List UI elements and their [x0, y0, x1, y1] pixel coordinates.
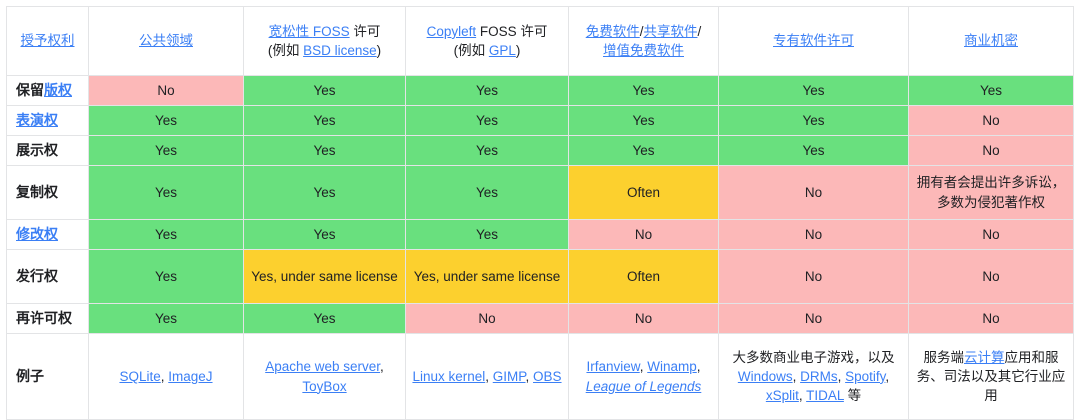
cell-modification-proprietary-license: No	[719, 220, 909, 250]
cell-copyright-trade-secret: Yes	[909, 76, 1074, 106]
cell-ex-public-domain-link-2[interactable]: ImageJ	[168, 369, 212, 384]
cell-sublicensing-freeware-shareware: No	[569, 304, 719, 334]
row-label-copyright-link-1[interactable]: 版权	[44, 82, 72, 98]
column-header-freeware-shareware-line-1: 增值免费软件	[575, 41, 712, 60]
column-header-permissive-foss-text-2: )	[377, 43, 382, 58]
cell-copyright-freeware-shareware: Yes	[569, 76, 719, 106]
cell-ex-copyleft-link-0[interactable]: Linux kernel	[412, 369, 485, 384]
column-header-permissive-foss-text-2: 许可	[350, 24, 381, 39]
column-header-public-domain-link-0[interactable]: 公共领域	[139, 33, 193, 48]
cell-distribution-copyleft-foss: Yes, under same license	[406, 250, 569, 304]
cell-performance-public-domain: Yes	[89, 106, 244, 136]
table-row: 再许可权YesYesNoNoNoNo	[7, 304, 1074, 334]
column-header-freeware-shareware-line-0: 免费软件/共享软件/	[575, 22, 712, 41]
column-header-copyleft-foss-text-2: )	[516, 43, 521, 58]
cell-display-proprietary-license: Yes	[719, 136, 909, 166]
cell-ex-permissive-link-2[interactable]: ToyBox	[302, 379, 346, 394]
column-header-copyleft-foss-text-0: (例如	[454, 43, 489, 58]
table-row: 修改权YesYesYesNoNoNo	[7, 220, 1074, 250]
column-header-rights: 授予权利	[7, 7, 89, 76]
cell-copyright-permissive-foss: Yes	[244, 76, 406, 106]
row-label-copyright-text-0: 保留	[16, 82, 44, 98]
cell-ex-proprietary: 大多数商业电子游戏，以及 Windows, DRMs, Spotify, xSp…	[719, 334, 909, 420]
cell-display-freeware-shareware: Yes	[569, 136, 719, 166]
cell-sublicensing-proprietary-license: No	[719, 304, 909, 334]
cell-reproduction-copyleft-foss: Yes	[406, 166, 569, 220]
column-header-proprietary-license: 专有软件许可	[719, 7, 909, 76]
cell-modification-freeware-shareware: No	[569, 220, 719, 250]
table-row: 表演权YesYesYesYesYesNo	[7, 106, 1074, 136]
row-label-reproduction-text-0: 复制权	[16, 184, 58, 200]
software-license-rights-table: 授予权利公共领域宽松性 FOSS 许可(例如 BSD license)Copyl…	[6, 6, 1074, 420]
column-header-permissive-foss-link-0[interactable]: 宽松性	[269, 24, 313, 39]
row-label-performance-link-0[interactable]: 表演权	[16, 112, 58, 128]
cell-reproduction-permissive-foss: Yes	[244, 166, 406, 220]
cell-display-trade-secret: No	[909, 136, 1074, 166]
cell-distribution-permissive-foss: Yes, under same license	[244, 250, 406, 304]
column-header-rights-line-0: 授予权利	[13, 31, 82, 50]
column-header-freeware-shareware-link-0[interactable]: 增值免费软件	[603, 43, 684, 58]
column-header-permissive-foss-link-1[interactable]: BSD license	[303, 43, 377, 58]
comparison-table-sheet: 授予权利公共领域宽松性 FOSS 许可(例如 BSD license)Copyl…	[6, 6, 1073, 420]
cell-distribution-proprietary-license: No	[719, 250, 909, 304]
cell-performance-freeware-shareware: Yes	[569, 106, 719, 136]
column-header-copyleft-foss-line-0: Copyleft FOSS 许可	[412, 22, 562, 41]
column-header-copyleft-foss: Copyleft FOSS 许可(例如 GPL)	[406, 7, 569, 76]
column-header-proprietary-license-line-0: 专有软件许可	[725, 31, 902, 50]
cell-performance-permissive-foss: Yes	[244, 106, 406, 136]
column-header-public-domain: 公共领域	[89, 7, 244, 76]
cell-distribution-public-domain: Yes	[89, 250, 244, 304]
cell-ex-freeware-link-2[interactable]: Winamp	[647, 359, 697, 374]
cell-reproduction-public-domain: Yes	[89, 166, 244, 220]
cell-ex-proprietary-text-2: ,	[793, 369, 801, 384]
row-label-sublicensing-text-0: 再许可权	[16, 310, 72, 326]
row-label-distribution: 发行权	[7, 250, 89, 304]
column-header-public-domain-line-0: 公共领域	[95, 31, 237, 50]
cell-ex-proprietary-text-0: 大多数商业电子游戏，以及	[733, 350, 895, 365]
row-label-examples-text-0: 例子	[16, 368, 44, 384]
cell-display-public-domain: Yes	[89, 136, 244, 166]
cell-copyright-public-domain: No	[89, 76, 244, 106]
cell-modification-copyleft-foss: Yes	[406, 220, 569, 250]
table-row: 复制权YesYesYesOftenNo拥有者会提出许多诉讼，多数为侵犯著作权	[7, 166, 1074, 220]
column-header-trade-secret-line-0: 商业机密	[915, 31, 1067, 50]
cell-ex-proprietary-link-3[interactable]: DRMs	[800, 369, 838, 384]
cell-ex-trade-secret-link-1[interactable]: 云计算	[964, 350, 1005, 365]
cell-ex-freeware-text-3: ,	[697, 359, 701, 374]
table-body: 保留版权NoYesYesYesYesYes表演权YesYesYesYesYesN…	[7, 76, 1074, 420]
cell-sublicensing-copyleft-foss: No	[406, 304, 569, 334]
cell-ex-proprietary-link-1[interactable]: Windows	[738, 369, 793, 384]
row-label-display-text-0: 展示权	[16, 142, 58, 158]
table-row: 发行权YesYes, under same licenseYes, under …	[7, 250, 1074, 304]
column-header-permissive-foss-text-0: (例如	[268, 43, 303, 58]
cell-ex-copyleft-link-4[interactable]: OBS	[533, 369, 562, 384]
cell-ex-public-domain: SQLite, ImageJ	[89, 334, 244, 420]
column-header-freeware-shareware-link-0[interactable]: 免费软件	[586, 24, 640, 39]
cell-modification-permissive-foss: Yes	[244, 220, 406, 250]
cell-reproduction-proprietary-license: No	[719, 166, 909, 220]
cell-reproduction-trade-secret: 拥有者会提出许多诉讼，多数为侵犯著作权	[909, 166, 1074, 220]
cell-distribution-freeware-shareware: Often	[569, 250, 719, 304]
column-header-copyleft-foss-link-0[interactable]: Copyleft	[427, 24, 477, 39]
header-row: 授予权利公共领域宽松性 FOSS 许可(例如 BSD license)Copyl…	[7, 7, 1074, 76]
cell-ex-permissive-link-0[interactable]: Apache web server	[265, 359, 380, 374]
cell-ex-permissive-text-1: ,	[380, 359, 384, 374]
row-label-reproduction: 复制权	[7, 166, 89, 220]
cell-performance-trade-secret: No	[909, 106, 1074, 136]
row-label-copyright: 保留版权	[7, 76, 89, 106]
column-header-freeware-shareware-link-2[interactable]: 共享软件	[644, 24, 698, 39]
cell-ex-freeware-link-4[interactable]: League of Legends	[586, 379, 702, 394]
cell-sublicensing-trade-secret: No	[909, 304, 1074, 334]
row-label-distribution-text-0: 发行权	[16, 268, 58, 284]
cell-ex-permissive: Apache web server, ToyBox	[244, 334, 406, 420]
cell-ex-freeware-link-0[interactable]: Irfanview	[586, 359, 639, 374]
row-label-performance: 表演权	[7, 106, 89, 136]
cell-ex-proprietary-link-5[interactable]: Spotify	[845, 369, 885, 384]
cell-modification-public-domain: Yes	[89, 220, 244, 250]
cell-copyright-copyleft-foss: Yes	[406, 76, 569, 106]
table-header: 授予权利公共领域宽松性 FOSS 许可(例如 BSD license)Copyl…	[7, 7, 1074, 76]
cell-ex-public-domain-link-0[interactable]: SQLite	[119, 369, 160, 384]
cell-ex-copyleft-text-3: ,	[526, 369, 534, 384]
cell-sublicensing-public-domain: Yes	[89, 304, 244, 334]
column-header-copyleft-foss-text-1: FOSS 许可	[476, 24, 547, 39]
cell-modification-trade-secret: No	[909, 220, 1074, 250]
column-header-copyleft-foss-link-1[interactable]: GPL	[489, 43, 516, 58]
cell-display-permissive-foss: Yes	[244, 136, 406, 166]
cell-ex-proprietary-link-7[interactable]: xSplit	[766, 388, 799, 403]
cell-distribution-trade-secret: No	[909, 250, 1074, 304]
row-label-modification-link-0[interactable]: 修改权	[16, 226, 58, 242]
column-header-trade-secret: 商业机密	[909, 7, 1074, 76]
column-header-copyleft-foss-line-1: (例如 GPL)	[412, 41, 562, 60]
cell-ex-trade-secret: 服务端云计算应用和服务、司法以及其它行业应用	[909, 334, 1074, 420]
cell-ex-proprietary-link-9[interactable]: TIDAL	[806, 388, 844, 403]
table-row: 展示权YesYesYesYesYesNo	[7, 136, 1074, 166]
table-row: 保留版权NoYesYesYesYesYes	[7, 76, 1074, 106]
cell-ex-freeware: Irfanview, Winamp, League of Legends	[569, 334, 719, 420]
row-label-display: 展示权	[7, 136, 89, 166]
column-header-trade-secret-link-0[interactable]: 商业机密	[964, 33, 1018, 48]
row-label-examples: 例子	[7, 334, 89, 420]
row-label-modification: 修改权	[7, 220, 89, 250]
cell-ex-copyleft-text-1: ,	[485, 369, 493, 384]
column-header-permissive-foss: 宽松性 FOSS 许可(例如 BSD license)	[244, 7, 406, 76]
cell-performance-copyleft-foss: Yes	[406, 106, 569, 136]
cell-performance-proprietary-license: Yes	[719, 106, 909, 136]
column-header-freeware-shareware-text-3: /	[698, 24, 702, 39]
cell-display-copyleft-foss: Yes	[406, 136, 569, 166]
column-header-freeware-shareware: 免费软件/共享软件/增值免费软件	[569, 7, 719, 76]
cell-reproduction-freeware-shareware: Often	[569, 166, 719, 220]
cell-ex-copyleft-link-2[interactable]: GIMP	[493, 369, 526, 384]
cell-ex-copyleft: Linux kernel, GIMP, OBS	[406, 334, 569, 420]
cell-ex-proprietary-text-10: 等	[844, 388, 861, 403]
column-header-permissive-foss-link-1[interactable]: FOSS	[313, 24, 350, 39]
cell-ex-proprietary-text-6: ,	[885, 369, 889, 384]
row-label-sublicensing: 再许可权	[7, 304, 89, 334]
column-header-permissive-foss-line-1: (例如 BSD license)	[250, 41, 399, 60]
cell-sublicensing-permissive-foss: Yes	[244, 304, 406, 334]
cell-ex-trade-secret-text-0: 服务端	[924, 350, 965, 365]
cell-copyright-proprietary-license: Yes	[719, 76, 909, 106]
column-header-proprietary-license-link-0[interactable]: 专有软件许可	[773, 33, 854, 48]
column-header-permissive-foss-line-0: 宽松性 FOSS 许可	[250, 22, 399, 41]
cell-ex-proprietary-text-4: ,	[838, 369, 846, 384]
table-row-examples: 例子SQLite, ImageJApache web server, ToyBo…	[7, 334, 1074, 420]
column-header-rights-link-0[interactable]: 授予权利	[21, 33, 75, 48]
